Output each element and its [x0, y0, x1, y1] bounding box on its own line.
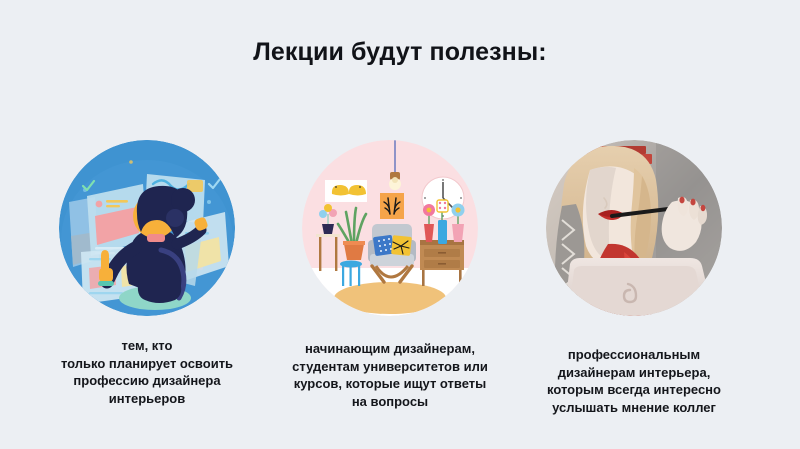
benefit-column-1: тем, кто только планирует освоить профес…: [22, 140, 272, 407]
pink-living-room-interior-illustration: [302, 140, 478, 316]
benefit-caption-2: начинающим дизайнерам, студентам универс…: [265, 340, 515, 410]
slide-canvas: Лекции будут полезны:: [0, 0, 800, 449]
illustration-2-wrap: [302, 140, 478, 316]
benefit-column-3: профессиональным дизайнерам интерьера, к…: [509, 140, 759, 416]
pink-living-room-svg: [302, 140, 478, 316]
illustration-1-wrap: [59, 140, 235, 316]
woman-with-pencil-svg: [546, 140, 722, 316]
person-at-floating-screens-svg: [59, 140, 235, 316]
woman-with-pencil-at-laptop-illustration: [546, 140, 722, 316]
person-at-floating-screens-illustration: [59, 140, 235, 316]
benefit-column-2: начинающим дизайнерам, студентам универс…: [265, 140, 515, 410]
benefit-caption-3: профессиональным дизайнерам интерьера, к…: [509, 346, 759, 416]
page-title: Лекции будут полезны:: [0, 38, 800, 67]
benefit-caption-1: тем, кто только планирует освоить профес…: [22, 337, 272, 407]
illustration-3-wrap: [546, 140, 722, 316]
